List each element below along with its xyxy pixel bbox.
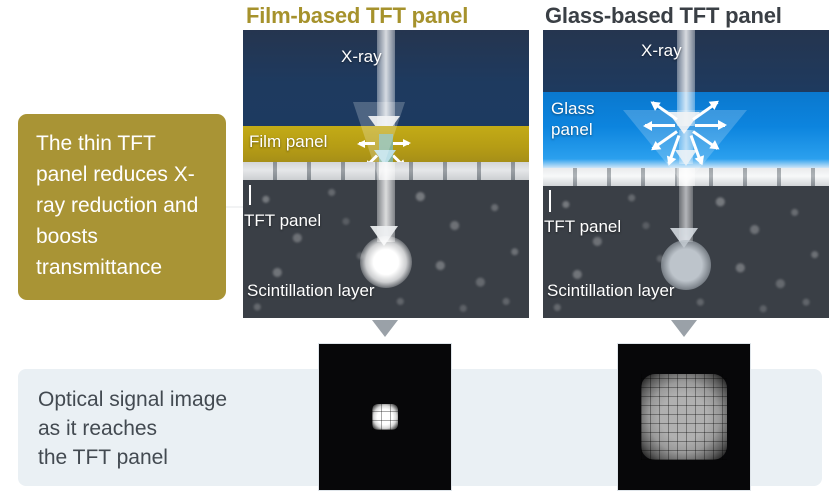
panel-title-right: Glass-based TFT panel [545, 3, 782, 29]
label-scintillation-right: Scintillation layer [547, 280, 675, 301]
optical-signal-image-glass [617, 343, 751, 491]
light-cone-left [353, 102, 405, 180]
light-cone-right [623, 110, 747, 186]
label-tft-panel-right: TFT panel [544, 216, 621, 237]
optical-signal-image-film [318, 343, 452, 491]
tft-pointer-left [249, 185, 251, 205]
label-xray-right: X-ray [641, 40, 682, 61]
label-xray-left: X-ray [341, 46, 382, 67]
label-tft-panel-left: TFT panel [244, 210, 321, 231]
label-film-panel: Film panel [249, 131, 327, 152]
signal-spot-film [372, 404, 398, 430]
flow-arrow-right [671, 320, 697, 337]
signal-pixel-grid-glass [641, 374, 727, 460]
signal-spot-glass [641, 374, 727, 460]
diagram-film-based: X-ray Film panel TFT panel Scintillation… [243, 30, 529, 318]
flow-arrow-left [372, 320, 398, 337]
label-scintillation-left: Scintillation layer [247, 280, 375, 301]
diagram-glass-based: X-ray Glass panel TFT panel Scintillatio… [543, 30, 829, 318]
tft-pointer-right [549, 190, 551, 212]
label-glass-panel: Glass panel [551, 98, 594, 140]
panel-title-left: Film-based TFT panel [246, 3, 468, 29]
signal-pixel-grid-film [372, 404, 398, 430]
callout-box: The thin TFT panel reduces X-ray reducti… [18, 114, 226, 300]
bottom-caption: Optical signal image as it reaches the T… [38, 385, 308, 472]
